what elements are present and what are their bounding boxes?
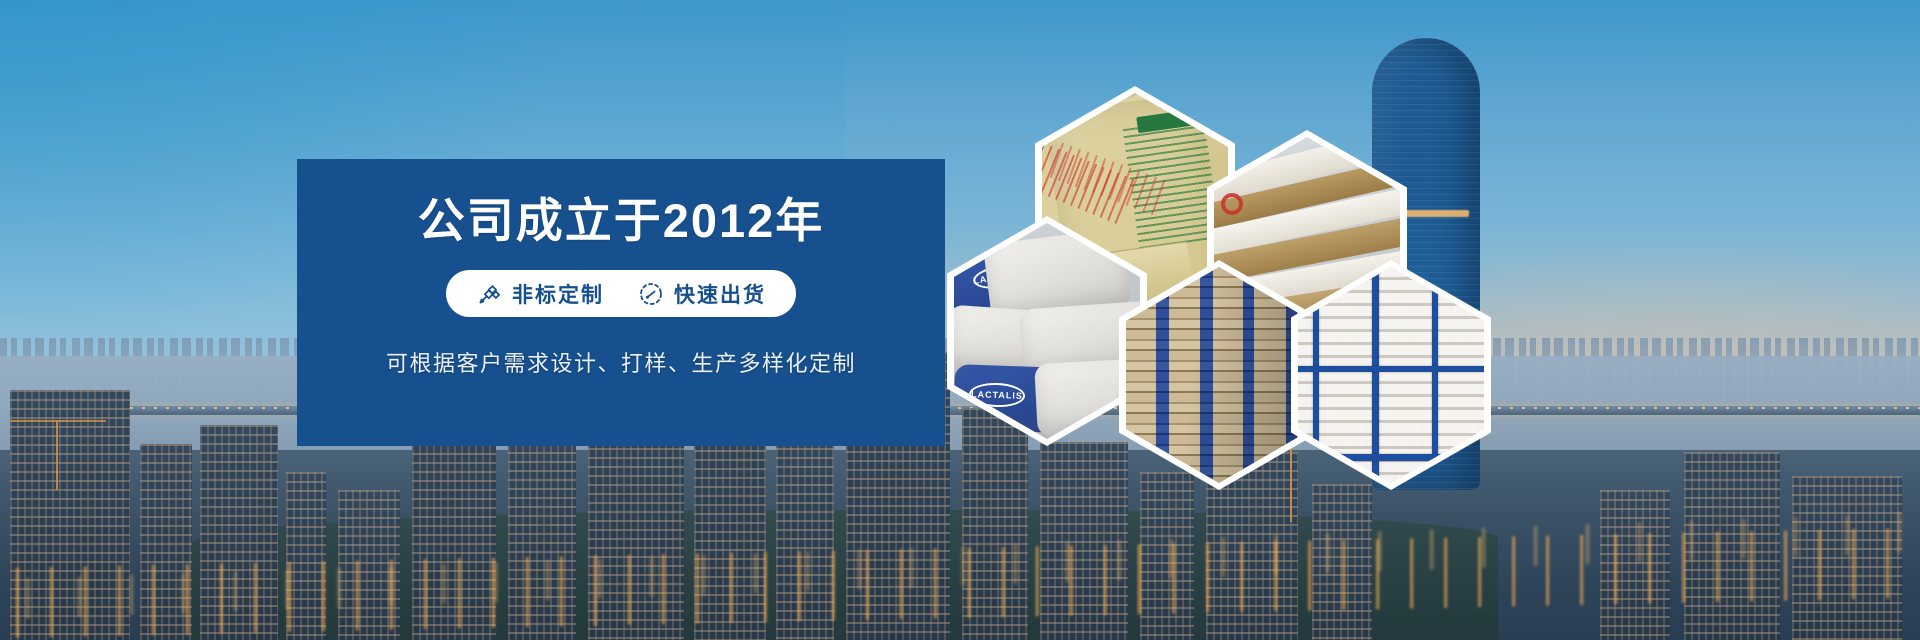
speedometer-icon	[638, 281, 664, 307]
page-subtitle: 可根据客户需求设计、打样、生产多样化定制	[386, 346, 856, 378]
custom-design-icon	[476, 281, 502, 307]
rack-beam-horizontal	[1298, 366, 1484, 372]
rack-beam-vertical	[1432, 267, 1438, 483]
feature-item-fast-shipping[interactable]: 快速出货	[638, 279, 766, 309]
rack-beam-vertical	[1372, 267, 1379, 483]
construction-crane-icon	[56, 420, 58, 490]
page-title: 公司成立于2012年	[418, 197, 825, 244]
product-hexagon-gallery: LACTALIS LACTALIS	[975, 86, 1535, 431]
hero-banner: rs	[0, 0, 1920, 640]
feature-item-custom-design[interactable]: 非标定制	[476, 279, 604, 309]
feature-label: 快速出货	[674, 279, 766, 309]
feature-pill-group: 非标定制 快速出货	[446, 270, 796, 317]
feature-label: 非标定制	[512, 279, 604, 309]
headline-panel: 公司成立于2012年 非标定制	[297, 159, 945, 446]
